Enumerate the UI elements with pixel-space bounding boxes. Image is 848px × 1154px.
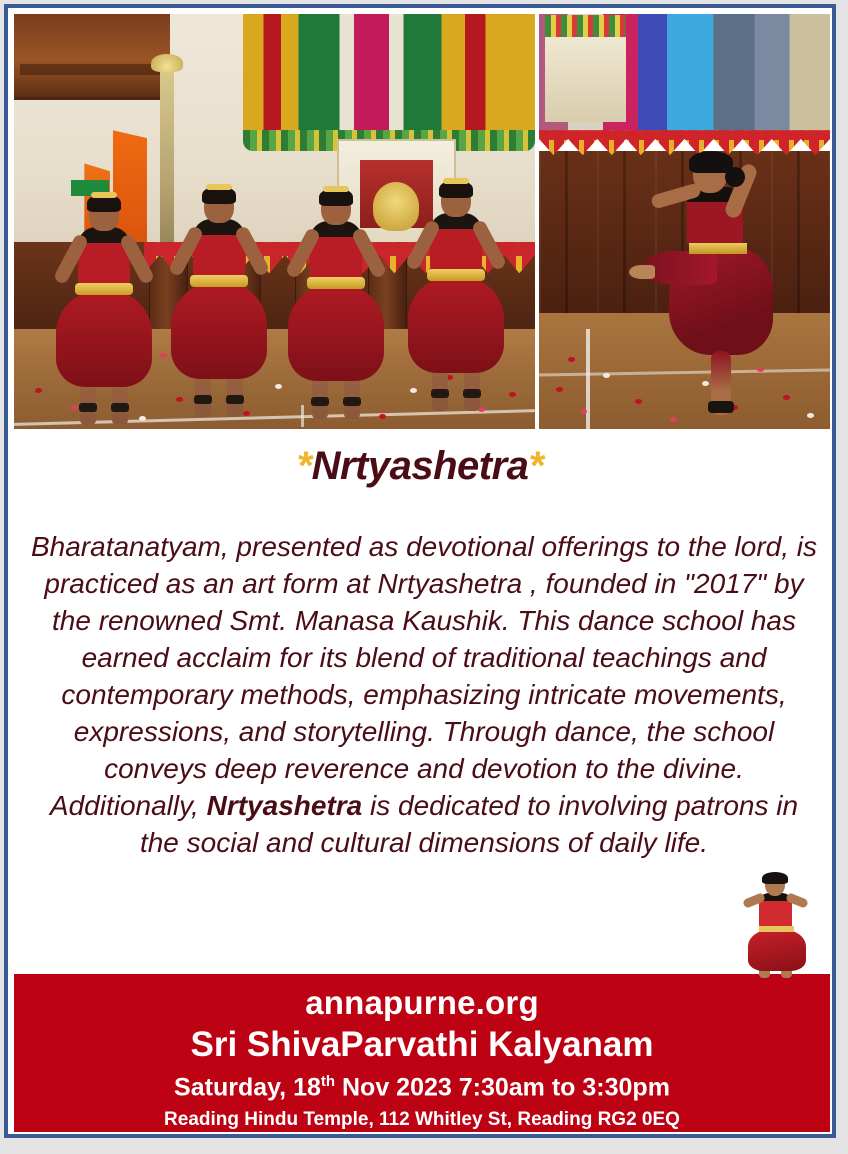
dancer-anklet	[226, 395, 244, 404]
dancer-costume	[171, 283, 267, 379]
dancer-anklet	[431, 389, 449, 398]
dancer-waist-belt	[427, 269, 485, 281]
dancer-anklet	[194, 395, 212, 404]
description-part-one: Bharatanatyam, presented as devotional o…	[31, 531, 817, 821]
dancer-costume	[748, 929, 806, 971]
description-paragraph: Bharatanatyam, presented as devotional o…	[30, 528, 818, 861]
title-text: Nrtyashetra	[312, 444, 529, 488]
dancer-costume	[288, 285, 384, 381]
dancer-anklet	[111, 403, 129, 412]
temple-hall-scene	[14, 14, 535, 429]
wooden-balcony	[14, 14, 170, 100]
dancer-costume	[56, 291, 152, 387]
dancer-anklet	[79, 403, 97, 412]
dancer-anklet	[708, 401, 734, 413]
event-banner: annapurne.org Sri ShivaParvathi Kalyanam…	[14, 974, 830, 1132]
cutout-dancer-figure	[739, 874, 811, 978]
shrine-platform	[545, 22, 626, 122]
date-ordinal: th	[321, 1073, 335, 1090]
date-suffix: Nov 2023 7:30am to 3:30pm	[335, 1073, 670, 1101]
photo-row	[14, 14, 830, 429]
dancer-foot	[629, 265, 655, 279]
dancer-costume	[408, 277, 504, 373]
event-name: Sri ShivaParvathi Kalyanam	[14, 1025, 830, 1065]
event-poster: *Nrtyashetra* Bharatanatyam, presented a…	[4, 4, 836, 1138]
dancer-headpiece	[443, 178, 469, 184]
dancer-headpiece	[91, 192, 117, 198]
dancer-waist-belt	[307, 277, 365, 289]
page-title: *Nrtyashetra*	[8, 444, 832, 489]
dancer-headpiece	[323, 186, 349, 192]
solo-dancer-photo	[539, 14, 830, 429]
description-bold-term: Nrtyashetra	[207, 790, 363, 821]
solo-stage-scene	[539, 14, 830, 429]
dancer-anklet	[463, 389, 481, 398]
event-venue: Reading Hindu Temple, 112 Whitley St, Re…	[14, 1109, 830, 1131]
date-prefix: Saturday, 18	[174, 1073, 321, 1101]
dancer-raised-leg	[645, 251, 717, 285]
dancer-waist-belt	[689, 243, 747, 254]
website-url[interactable]: annapurne.org	[14, 984, 830, 1022]
dancer-headpiece	[206, 184, 232, 190]
star-right-decoration: *	[528, 444, 543, 488]
event-datetime: Saturday, 18th Nov 2023 7:30am to 3:30pm	[14, 1073, 830, 1102]
dancer-hair-bun	[725, 167, 745, 187]
group-dancers-photo	[14, 14, 535, 429]
dancer-waist-belt	[759, 926, 794, 932]
dancer-waist-belt	[75, 283, 133, 295]
stage-drapes	[243, 14, 535, 139]
dancer-hair	[762, 872, 788, 884]
dancer-waist-belt	[190, 275, 248, 287]
star-left-decoration: *	[297, 444, 312, 488]
dancer-anklet	[311, 397, 329, 406]
dancer-anklet	[343, 397, 361, 406]
